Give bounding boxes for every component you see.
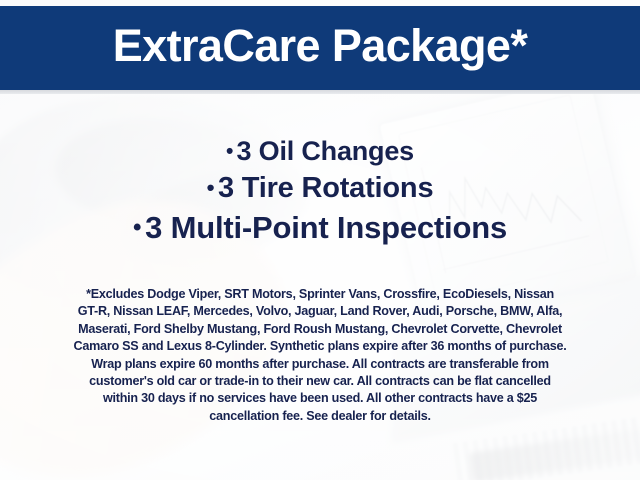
disclaimer-text: *Excludes Dodge Viper, SRT Motors, Sprin…	[22, 286, 618, 425]
disclaimer-line: *Excludes Dodge Viper, SRT Motors, Sprin…	[22, 286, 618, 303]
header-underline	[0, 90, 640, 94]
disclaimer-line: within 30 days if no services have been …	[22, 390, 618, 407]
disclaimer-line: Wrap plans expire 60 months after purcha…	[22, 356, 618, 373]
page-title: ExtraCare Package*	[0, 23, 640, 68]
disclaimer-line: customer's old car or trade-in to their …	[22, 373, 618, 390]
benefit-label-oil-changes: 3 Oil Changes	[237, 136, 414, 166]
disclaimer-line: Maserati, Ford Shelby Mustang, Ford Rous…	[22, 321, 618, 338]
disclaimer-line: GT-R, Nissan LEAF, Mercedes, Volvo, Jagu…	[22, 303, 618, 320]
disclaimer-line: cancellation fee. See dealer for details…	[22, 408, 618, 425]
extracare-package-ad: ExtraCare Package* •3 Oil Changes •3 Tir…	[0, 0, 640, 480]
disclaimer-line: Camaro SS and Lexus 8-Cylinder. Syntheti…	[22, 338, 618, 355]
bullet-dot-icon: •	[133, 214, 141, 241]
benefits-list: •3 Oil Changes •3 Tire Rotations •3 Mult…	[0, 138, 640, 244]
benefit-item-tire-rotations: •3 Tire Rotations	[0, 174, 640, 204]
bullet-dot-icon: •	[207, 175, 215, 200]
header-band: ExtraCare Package*	[0, 6, 640, 90]
bullet-dot-icon: •	[226, 140, 233, 163]
benefit-item-multi-point-inspections: •3 Multi-Point Inspections	[0, 212, 640, 244]
benefit-label-multi-point-inspections: 3 Multi-Point Inspections	[145, 210, 507, 245]
benefit-item-oil-changes: •3 Oil Changes	[0, 138, 640, 166]
benefit-label-tire-rotations: 3 Tire Rotations	[218, 172, 433, 204]
